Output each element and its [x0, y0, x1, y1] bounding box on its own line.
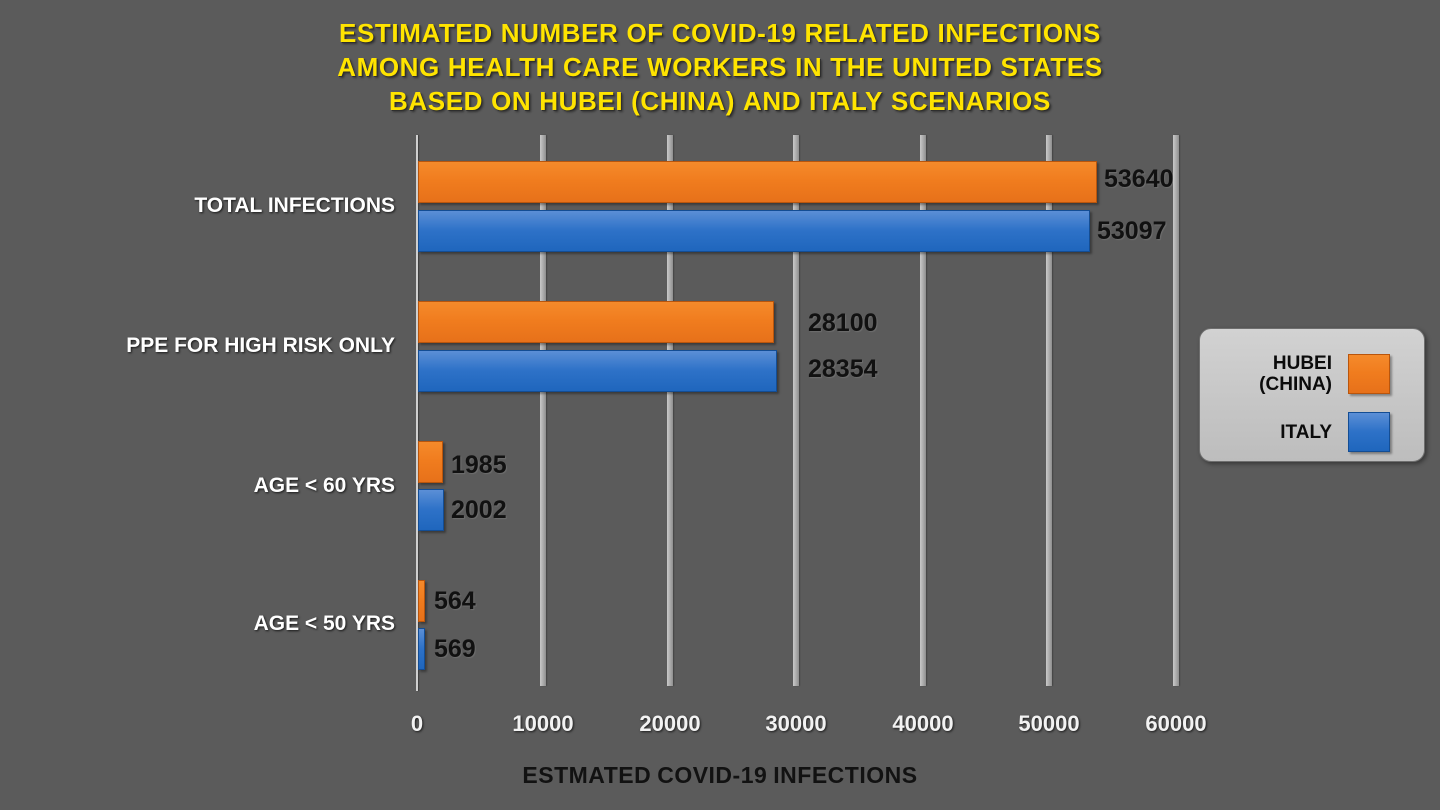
- x-tick-60000: 60000: [1145, 712, 1206, 736]
- legend-label-italy: ITALY: [1200, 422, 1348, 443]
- category-label-ppe-for-high-risk-only: PPE FOR HIGH RISK ONLY: [126, 334, 395, 358]
- bar-italy-total-infections: [418, 210, 1090, 252]
- bar-value-hubei-age-under-50: 564: [434, 589, 476, 614]
- category-label-age-under-50: AGE < 50 YRS: [254, 612, 395, 636]
- bar-italy-age-under-60: [418, 489, 444, 531]
- x-tick-20000: 20000: [639, 712, 700, 736]
- bar-value-italy-age-under-50: 569: [434, 637, 476, 662]
- category-label-total-infections: TOTAL INFECTIONS: [194, 194, 395, 218]
- chart-title-line-3: BASEDONHUBEI(CHINA)ANDITALYSCENARIOS: [0, 84, 1440, 118]
- x-tick-30000: 30000: [765, 712, 826, 736]
- legend-item-italy: ITALY: [1200, 405, 1424, 459]
- chart-title-line-1: ESTIMATEDNUMBEROFCOVID-19RELATEDINFECTIO…: [0, 16, 1440, 50]
- bar-hubei-age-under-50: [418, 580, 425, 622]
- chart-title-line-2: AMONGHEALTHCAREWORKERSINTHEUNITEDSTATES: [0, 50, 1440, 84]
- legend-label-hubei: HUBEI (CHINA): [1200, 353, 1348, 395]
- x-tick-0: 0: [411, 712, 423, 736]
- bar-italy-ppe-high-risk: [418, 350, 777, 392]
- bar-hubei-total-infections: [418, 161, 1097, 203]
- category-label-age-under-60: AGE < 60 YRS: [254, 474, 395, 498]
- x-tick-50000: 50000: [1018, 712, 1079, 736]
- chart-legend: HUBEI (CHINA) ITALY: [1199, 328, 1425, 462]
- chart-title: ESTIMATEDNUMBEROFCOVID-19RELATEDINFECTIO…: [0, 16, 1440, 118]
- bar-value-hubei-ppe-high-risk: 28100: [808, 311, 878, 336]
- bar-value-hubei-age-under-60: 1985: [451, 453, 507, 478]
- plot-area: 53640 53097 28100 28354 1985 2002 564 56…: [416, 135, 1181, 691]
- bar-value-hubei-total-infections: 53640: [1104, 167, 1174, 192]
- bar-hubei-age-under-60: [418, 441, 443, 483]
- gridline-60000: [1173, 135, 1179, 686]
- x-tick-10000: 10000: [512, 712, 573, 736]
- bar-value-italy-total-infections: 53097: [1097, 219, 1167, 244]
- legend-item-hubei: HUBEI (CHINA): [1200, 347, 1424, 401]
- legend-swatch-italy: [1348, 412, 1390, 452]
- bar-chart: ESTIMATEDNUMBEROFCOVID-19RELATEDINFECTIO…: [0, 0, 1440, 810]
- x-tick-40000: 40000: [892, 712, 953, 736]
- bar-hubei-ppe-high-risk: [418, 301, 774, 343]
- legend-swatch-hubei: [1348, 354, 1390, 394]
- bar-italy-age-under-50: [418, 628, 425, 670]
- bar-value-italy-ppe-high-risk: 28354: [808, 357, 878, 382]
- x-axis-title: ESTMATEDCOVID-19INFECTIONS: [0, 762, 1440, 789]
- bar-value-italy-age-under-60: 2002: [451, 498, 507, 523]
